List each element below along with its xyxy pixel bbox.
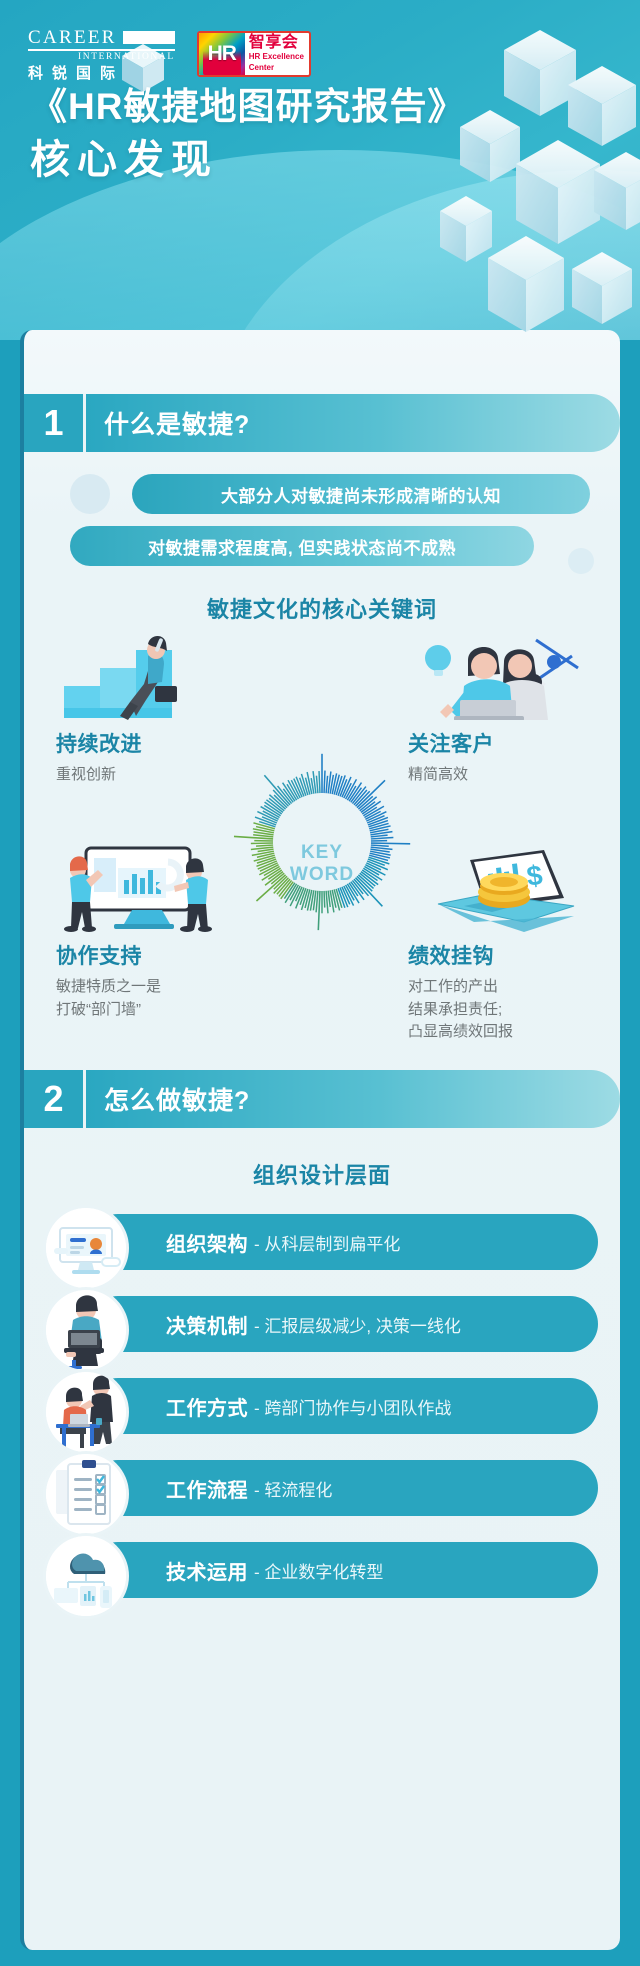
list-item-title: 工作流程: [166, 1474, 248, 1503]
career-chinese-name: 科锐国际: [28, 66, 175, 81]
stairs-climb-icon: [56, 634, 246, 720]
keyword-title: 持续改进: [56, 728, 246, 758]
list-item-title: 技术运用: [166, 1556, 248, 1585]
hero-title-line-2: 核心发现: [30, 134, 465, 186]
hr-mark-text: HR: [208, 42, 236, 66]
keyword-desc: 对工作的产出 结果承担责任; 凸显高绩效回报: [408, 976, 598, 1044]
hr-logo-en-1: HR Excellence: [249, 53, 304, 62]
hr-logo-en-2: Center: [249, 64, 304, 73]
laptop-coins-icon: $: [408, 846, 598, 932]
career-wordmark: CAREER: [28, 28, 117, 47]
keyword-title: 关注客户: [408, 728, 598, 758]
clipboard-checklist-icon: [46, 1454, 126, 1534]
list-item-desc: - 汇报层级减少, 决策一线化: [254, 1312, 461, 1337]
list-item[interactable]: 工作方式 - 跨部门协作与小团队作战: [46, 1372, 598, 1440]
career-logo-bar: [123, 31, 175, 44]
cloud-devices-icon: [46, 1536, 126, 1616]
radial-burst-graphic: [224, 744, 420, 940]
keyword-item-continuous-improvement: 持续改进 重视创新: [56, 634, 246, 787]
dashboard-collab-icon: [56, 846, 246, 932]
person-laptop-icon: [46, 1290, 126, 1370]
list-item-desc: - 轻流程化: [254, 1476, 332, 1501]
hr-mark-icon: HR: [199, 33, 245, 75]
keyword-item-customer-focus: 关注客户 精简高效: [408, 634, 598, 787]
list-item-bar: 决策机制 - 汇报层级减少, 决策一线化: [90, 1296, 598, 1352]
decorative-circle-2: [568, 548, 594, 574]
keyword-title: 绩效挂钩: [408, 940, 598, 970]
keyword-quadrants: KEY WORD: [24, 634, 620, 1054]
keyword-item-performance-link: $ 绩效挂钩 对工作的产出 结果承担责任;: [408, 846, 598, 1044]
section-1-number: 1: [24, 394, 86, 452]
section-2-title: 怎么做敏捷?: [86, 1070, 620, 1128]
list-item-bar: 工作流程 - 轻流程化: [90, 1460, 598, 1516]
list-item-title: 工作方式: [166, 1392, 248, 1421]
keyword-title: 协作支持: [56, 940, 246, 970]
statement-pill-2: 对敏捷需求程度高, 但实践状态尚不成熟: [70, 526, 534, 566]
hero-title: 《HR敏捷地图研究报告》 核心发现: [30, 84, 465, 186]
section-2-header: 2 怎么做敏捷?: [24, 1070, 620, 1128]
career-international-logo: CAREER INTERNATIONAL 科锐国际: [28, 28, 175, 81]
list-item[interactable]: 组织架构 - 从科层制到扁平化: [46, 1208, 598, 1276]
section-1: 1 什么是敏捷? 大部分人对敏捷尚未形成清晰的认知 对敏捷需求程度高, 但实践状…: [24, 330, 620, 1054]
keyword-section-heading: 敏捷文化的核心关键词: [24, 592, 620, 624]
brand-logos: CAREER INTERNATIONAL 科锐国际 HR 智享会 HR Exce…: [28, 28, 311, 81]
team-idea-icon: [408, 634, 598, 720]
list-item-bar: 组织架构 - 从科层制到扁平化: [90, 1214, 598, 1270]
org-design-list: 组织架构 - 从科层制到扁平化: [24, 1208, 620, 1604]
list-item[interactable]: 决策机制 - 汇报层级减少, 决策一线化: [46, 1290, 598, 1358]
list-item-desc: - 企业数字化转型: [254, 1558, 383, 1583]
list-item-bar: 工作方式 - 跨部门协作与小团队作战: [90, 1378, 598, 1434]
list-item[interactable]: 技术运用 - 企业数字化转型: [46, 1536, 598, 1604]
hero-banner: CAREER INTERNATIONAL 科锐国际 HR 智享会 HR Exce…: [0, 0, 640, 340]
list-item-title: 决策机制: [166, 1310, 248, 1339]
decorative-circle-1: [70, 474, 110, 514]
career-subtitle: INTERNATIONAL: [28, 49, 175, 63]
section-1-title: 什么是敏捷?: [86, 394, 620, 452]
section-2: 2 怎么做敏捷? 组织设计层面 组织架构 - 从科层制到扁平化: [24, 1070, 620, 1604]
list-item-desc: - 跨部门协作与小团队作战: [254, 1394, 451, 1419]
keyword-item-collaboration-support: 协作支持 敏捷特质之一是 打破“部门墙”: [56, 846, 246, 1021]
infographic-page: CAREER INTERNATIONAL 科锐国际 HR 智享会 HR Exce…: [0, 0, 640, 1966]
section-1-header: 1 什么是敏捷?: [24, 394, 620, 452]
keyword-desc: 精简高效: [408, 764, 598, 787]
section-1-statements: 大部分人对敏捷尚未形成清晰的认知 对敏捷需求程度高, 但实践状态尚不成熟: [24, 452, 620, 566]
content-card: 1 什么是敏捷? 大部分人对敏捷尚未形成清晰的认知 对敏捷需求程度高, 但实践状…: [20, 330, 620, 1950]
section-2-number: 2: [24, 1070, 86, 1128]
section-2-subheading: 组织设计层面: [24, 1158, 620, 1190]
list-item-title: 组织架构: [166, 1228, 248, 1257]
hr-logo-chinese: 智享会: [249, 35, 304, 51]
list-item[interactable]: 工作流程 - 轻流程化: [46, 1454, 598, 1522]
list-item-desc: - 从科层制到扁平化: [254, 1230, 400, 1255]
statement-pill-1: 大部分人对敏捷尚未形成清晰的认知: [132, 474, 590, 514]
hr-excellence-center-logo: HR 智享会 HR Excellence Center: [197, 31, 311, 77]
monitor-profile-icon: [46, 1208, 126, 1288]
hero-title-line-1: 《HR敏捷地图研究报告》: [30, 84, 465, 130]
keyword-desc: 敏捷特质之一是 打破“部门墙”: [56, 976, 246, 1021]
list-item-bar: 技术运用 - 企业数字化转型: [90, 1542, 598, 1598]
keyword-desc: 重视创新: [56, 764, 246, 787]
two-people-desk-icon: [46, 1372, 126, 1452]
